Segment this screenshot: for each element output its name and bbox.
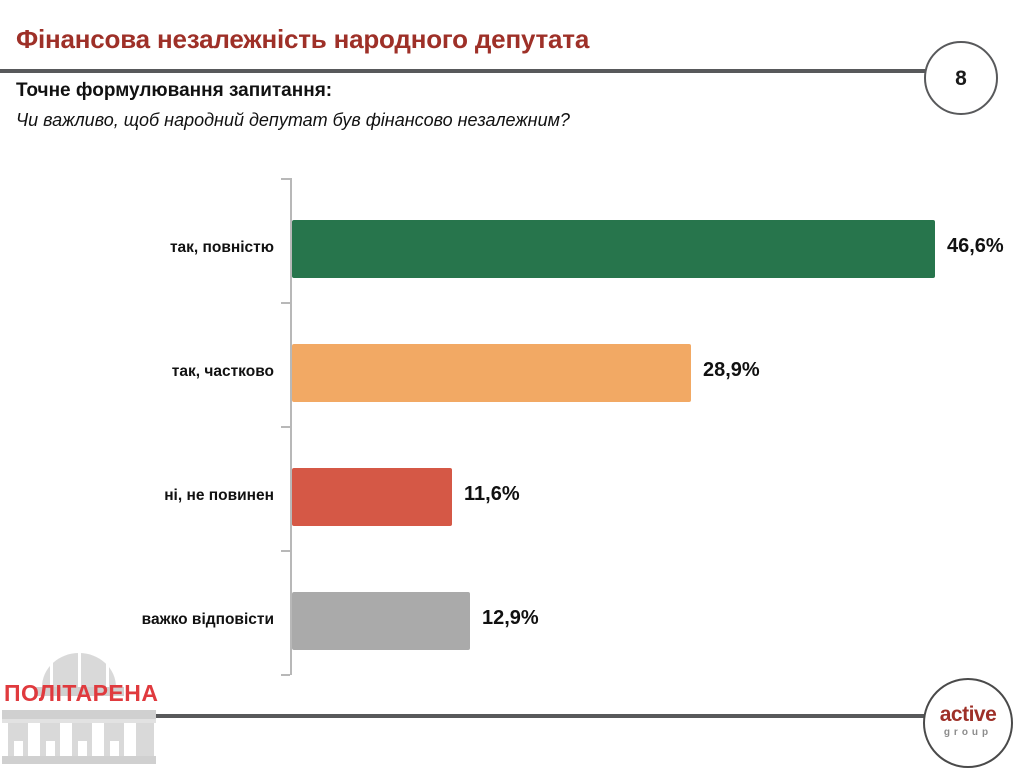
- page-title: Фінансова незалежність народного депутат…: [16, 24, 589, 55]
- question-heading: Точне формулювання запитання:: [16, 80, 332, 102]
- politarena-logo: ПОЛІТАРЕНА: [0, 653, 158, 764]
- page-number-value: 8: [955, 68, 967, 89]
- bar-row: важко відповісти12,9%: [0, 592, 1024, 650]
- axis-tick: [281, 178, 290, 180]
- slide-canvas: Фінансова незалежність народного депутат…: [0, 0, 1024, 764]
- bar-row: так, повністю46,6%: [0, 220, 1024, 278]
- axis-tick: [281, 426, 290, 428]
- bar-value-label: 11,6%: [464, 483, 520, 506]
- activegroup-wordmark-group: group: [925, 727, 1011, 738]
- activegroup-wordmark-active: active: [925, 703, 1011, 727]
- page-number-badge: 8: [924, 41, 998, 115]
- axis-tick: [281, 674, 290, 676]
- bar-category-label: ні, не повинен: [0, 487, 274, 505]
- footer-divider: [155, 714, 927, 718]
- bar-category-label: важко відповісти: [0, 611, 274, 629]
- bar-row: так, частково28,9%: [0, 344, 1024, 402]
- bar-1: [292, 220, 935, 278]
- bar-row: ні, не повинен11,6%: [0, 468, 1024, 526]
- bar-value-label: 28,9%: [703, 359, 760, 382]
- politarena-wordmark: ПОЛІТАРЕНА: [4, 680, 159, 707]
- bar-category-label: так, повністю: [0, 239, 274, 257]
- bar-4: [292, 592, 470, 650]
- bar-3: [292, 468, 452, 526]
- bar-2: [292, 344, 691, 402]
- bar-value-label: 46,6%: [947, 235, 1004, 258]
- bar-chart: так, повністю46,6%так, частково28,9%ні, …: [0, 170, 1024, 682]
- activegroup-logo: active group: [923, 678, 1013, 768]
- header-divider: [0, 69, 932, 73]
- politarena-building-icon: [0, 653, 158, 764]
- axis-tick: [281, 550, 290, 552]
- question-text: Чи важливо, щоб народний депутат був фін…: [16, 110, 570, 131]
- axis-tick: [281, 302, 290, 304]
- bar-category-label: так, частково: [0, 363, 274, 381]
- bar-value-label: 12,9%: [482, 607, 539, 630]
